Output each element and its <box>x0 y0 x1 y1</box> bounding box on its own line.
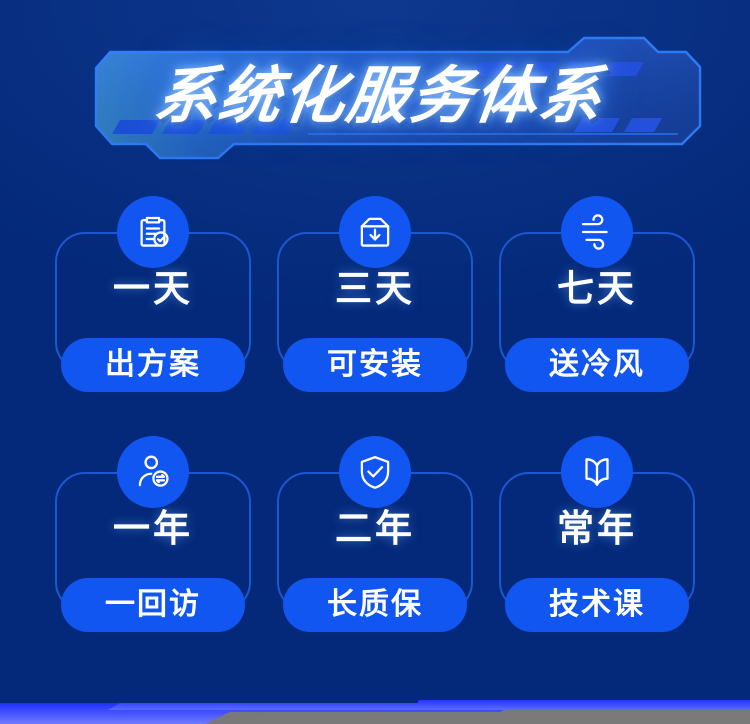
card-title: 一年 <box>55 510 251 547</box>
page-title: 系统化服务体系 <box>152 65 608 127</box>
clipboard-check-icon <box>117 196 189 268</box>
title-banner: 系统化服务体系 <box>48 22 703 170</box>
card-row-1: 一天 出方案 三天 可安装 <box>0 196 750 388</box>
bottom-decoration-strip <box>0 690 750 724</box>
card-pill-label: 一回访 <box>105 590 201 620</box>
open-book-icon <box>561 436 633 508</box>
feature-card-one-day[interactable]: 一天 出方案 <box>55 196 251 388</box>
card-pill-button[interactable]: 可安装 <box>283 338 467 392</box>
card-title: 七天 <box>499 270 695 307</box>
strip-navy-notch <box>0 699 418 703</box>
card-pill-button[interactable]: 出方案 <box>61 338 245 392</box>
feature-card-seven-days[interactable]: 七天 送冷风 <box>499 196 695 388</box>
wind-icon <box>561 196 633 268</box>
card-pill-label: 可安装 <box>327 350 423 380</box>
card-pill-label: 长质保 <box>327 590 423 620</box>
card-title: 常年 <box>499 510 695 547</box>
card-pill-label: 技术课 <box>549 590 645 620</box>
card-title: 三天 <box>277 270 473 307</box>
feature-card-year-round[interactable]: 常年 技术课 <box>499 436 695 628</box>
feature-card-grid: 一天 出方案 三天 可安装 <box>0 196 750 628</box>
card-pill-label: 送冷风 <box>549 350 645 380</box>
card-pill-button[interactable]: 一回访 <box>61 578 245 632</box>
feature-card-three-days[interactable]: 三天 可安装 <box>277 196 473 388</box>
promo-page: 系统化服务体系 一天 出方案 <box>0 0 750 724</box>
shield-check-icon <box>339 436 411 508</box>
card-title: 二年 <box>277 510 473 547</box>
card-row-2: 一年 一回访 二年 长质保 <box>0 436 750 628</box>
card-pill-label: 出方案 <box>105 350 201 380</box>
feature-card-one-year[interactable]: 一年 一回访 <box>55 436 251 628</box>
user-followup-icon <box>117 436 189 508</box>
bottom-strip-graphic <box>0 690 750 724</box>
feature-card-two-years[interactable]: 二年 长质保 <box>277 436 473 628</box>
card-pill-button[interactable]: 长质保 <box>283 578 467 632</box>
strip-navy-top <box>0 690 750 699</box>
card-pill-button[interactable]: 送冷风 <box>505 338 689 392</box>
banner-title-text: 系统化服务体系 <box>48 22 703 170</box>
card-pill-button[interactable]: 技术课 <box>505 578 689 632</box>
box-download-icon <box>339 196 411 268</box>
card-title: 一天 <box>55 270 251 307</box>
